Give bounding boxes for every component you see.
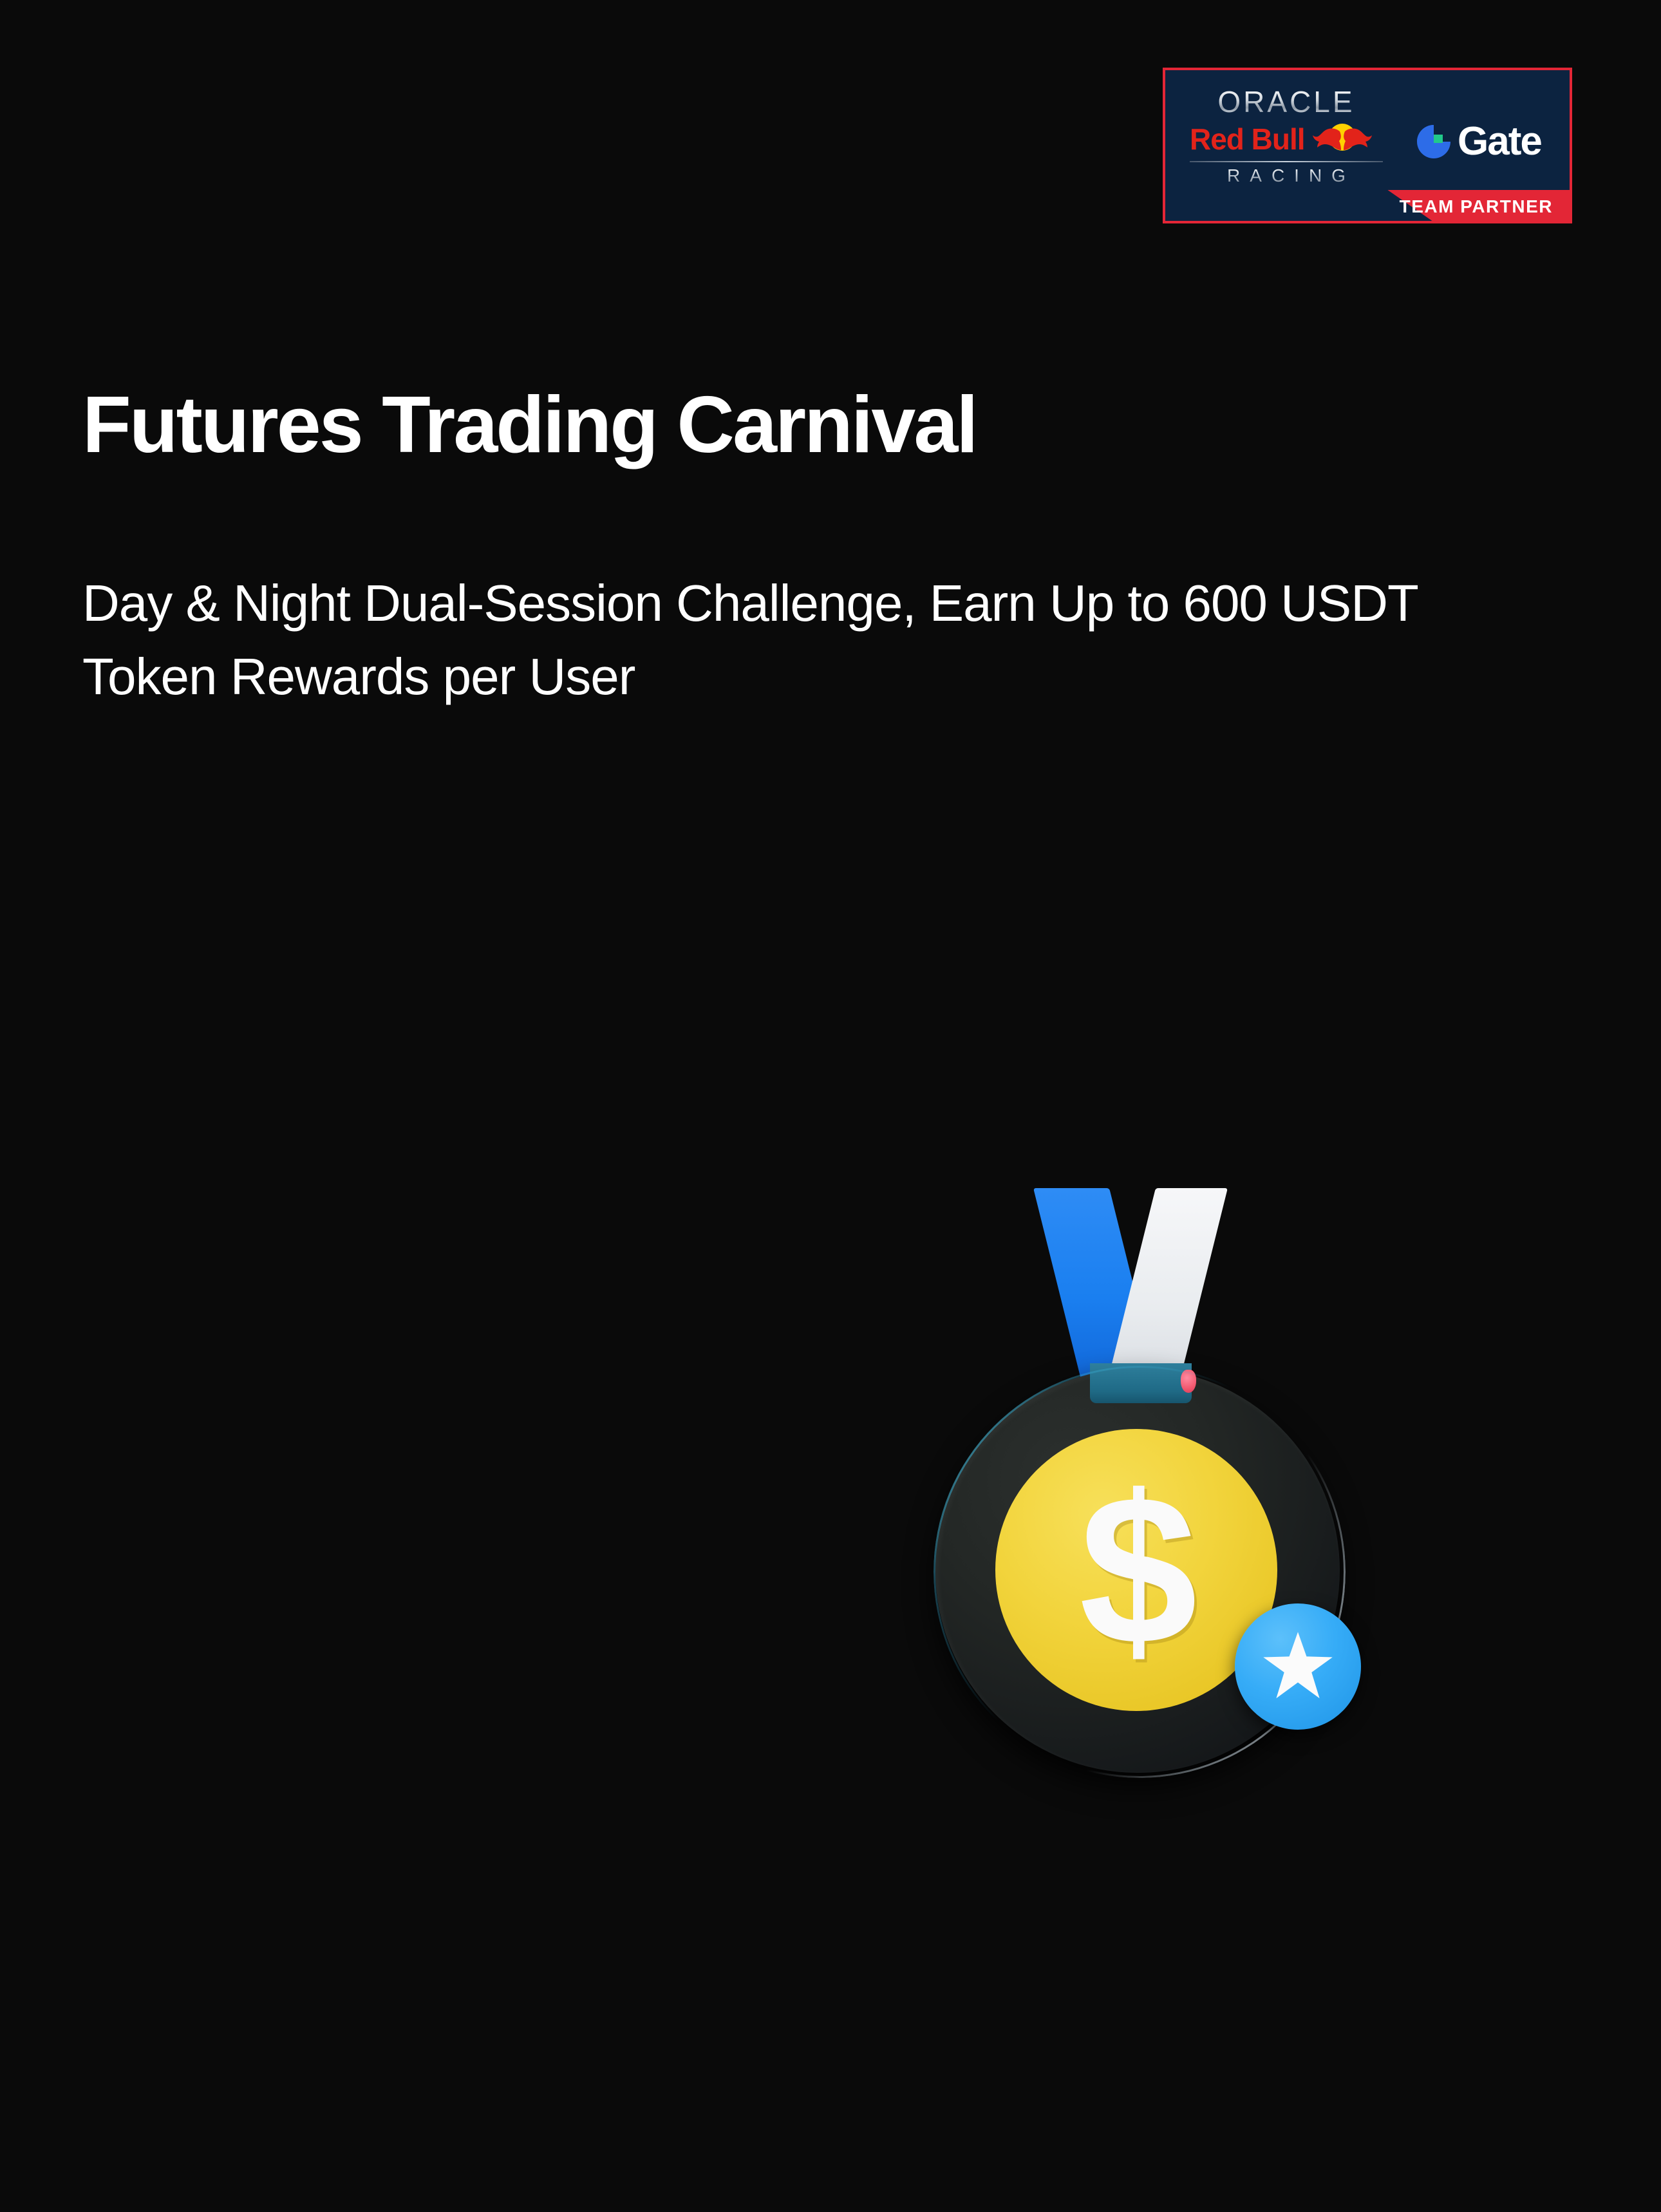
sponsor-banner-inner: ORACLE Red Bull RACING <box>1165 70 1570 221</box>
page-subtitle: Day & Night Dual-Session Challenge, Earn… <box>82 567 1512 713</box>
star-badge <box>1235 1603 1361 1730</box>
oracle-red-bull-racing-logo: ORACLE Red Bull RACING <box>1190 87 1383 185</box>
usdt-reward-medal-illustration: $ <box>934 1188 1397 1787</box>
page-title: Futures Trading Carnival <box>82 381 977 469</box>
logo-divider <box>1190 161 1383 162</box>
gate-wordmark: Gate <box>1458 122 1541 162</box>
team-partner-band: TEAM PARTNER <box>1165 190 1570 221</box>
red-bull-wordmark: Red Bull <box>1190 124 1305 154</box>
red-bull-row: Red Bull <box>1190 120 1383 158</box>
team-partner-label: TEAM PARTNER <box>1400 198 1553 216</box>
oracle-wordmark: ORACLE <box>1190 87 1383 117</box>
star-icon <box>1262 1631 1334 1703</box>
red-bull-charging-bulls-icon <box>1309 122 1376 156</box>
gate-logo: Gate <box>1415 122 1541 162</box>
gate-c-mark-icon <box>1415 123 1452 160</box>
racing-wordmark: RACING <box>1190 167 1383 185</box>
sponsor-banner: ORACLE Red Bull RACING <box>1163 68 1572 223</box>
